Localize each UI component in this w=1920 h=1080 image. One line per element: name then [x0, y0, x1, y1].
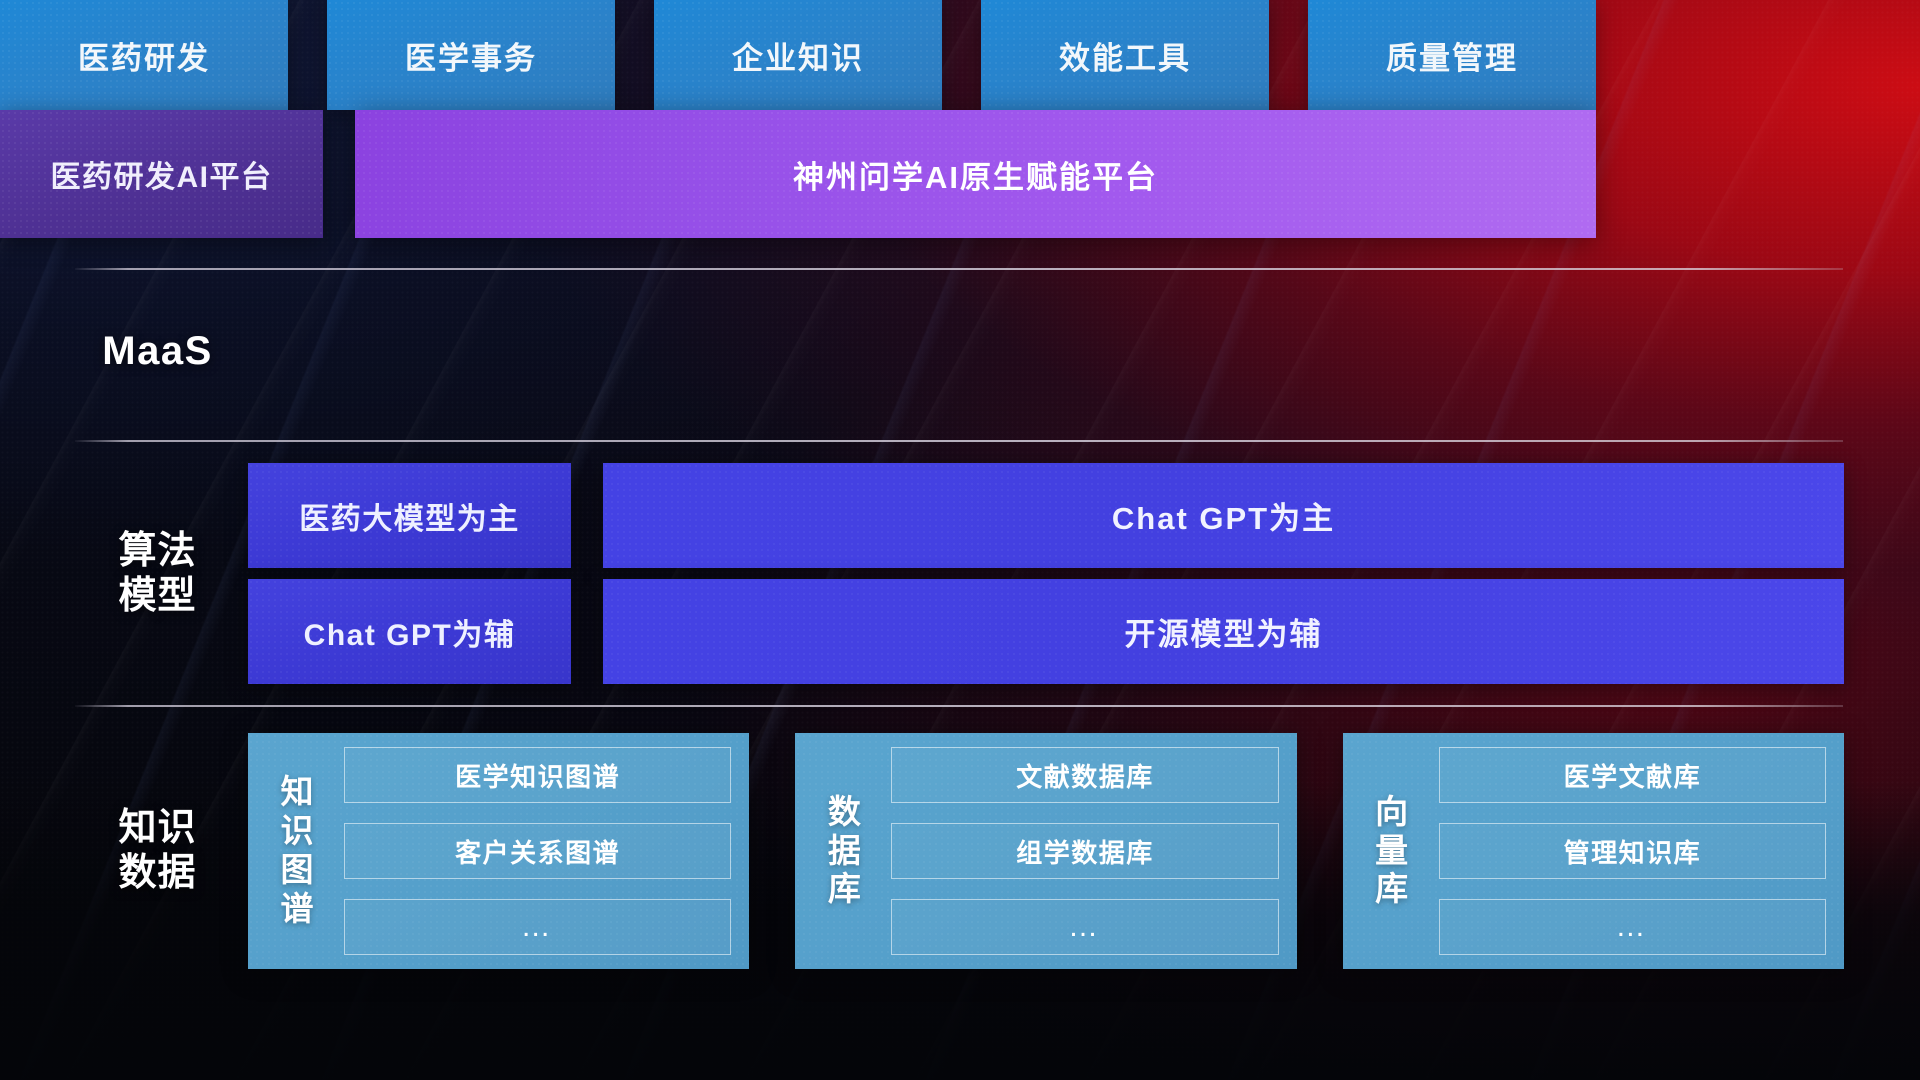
divider-scenario-maas	[75, 268, 1843, 270]
algorithm-box-medicine-llm-primary[interactable]: 医药大模型为主	[248, 463, 571, 568]
scenario-box-label: 质量管理	[1386, 33, 1518, 78]
knowledge-chip-management-knowledge[interactable]: 管理知识库	[1439, 823, 1826, 879]
maas-box-shenzhou-wenxue-platform[interactable]: 神州问学AI原生赋能平台	[355, 110, 1596, 238]
scenario-box-enterprise-knowledge[interactable]: 企业知识	[654, 0, 942, 110]
algorithm-box-label: 开源模型为辅	[1125, 609, 1323, 654]
scenario-box-row: 医药研发 医学事务 企业知识 效能工具 质量管理	[0, 0, 1596, 110]
maas-box-label: 医药研发AI平台	[51, 152, 273, 196]
diagram-content: 应用 场景 医药研发 医学事务 企业知识 效能工具 质量管理 MaaS 医药研发…	[0, 0, 1920, 1080]
knowledge-panel-knowledge-graph[interactable]: 知识图谱 医学知识图谱 客户关系图谱 …	[248, 733, 749, 969]
knowledge-panel-title: 数据库	[811, 747, 877, 955]
algorithm-row-secondary: Chat GPT为辅 开源模型为辅	[248, 579, 1844, 684]
maas-box-label: 神州问学AI原生赋能平台	[793, 152, 1158, 197]
scenario-box-label: 企业知识	[732, 33, 864, 78]
knowledge-panel-vector-store[interactable]: 向量库 医学文献库 管理知识库 …	[1343, 733, 1844, 969]
maas-box-medicine-ai-platform[interactable]: 医药研发AI平台	[0, 110, 323, 238]
algorithm-box-chatgpt-primary[interactable]: Chat GPT为主	[603, 463, 1844, 568]
divider-algorithm-knowledge	[75, 705, 1843, 707]
scenario-box-label: 效能工具	[1059, 33, 1191, 78]
knowledge-panel-database[interactable]: 数据库 文献数据库 组学数据库 …	[795, 733, 1296, 969]
knowledge-chip-more[interactable]: …	[344, 899, 731, 955]
algorithm-box-chatgpt-secondary[interactable]: Chat GPT为辅	[248, 579, 571, 684]
maas-box-row: 医药研发AI平台 神州问学AI原生赋能平台	[0, 110, 1596, 238]
knowledge-chip-list: 医学知识图谱 客户关系图谱 …	[344, 747, 731, 955]
knowledge-panel-title: 向量库	[1359, 747, 1425, 955]
divider-maas-algorithm	[75, 440, 1843, 442]
knowledge-chip-medical-graph[interactable]: 医学知识图谱	[344, 747, 731, 803]
knowledge-chip-omics-db[interactable]: 组学数据库	[891, 823, 1278, 879]
scenario-box-quality-management[interactable]: 质量管理	[1308, 0, 1596, 110]
knowledge-chip-medical-literature[interactable]: 医学文献库	[1439, 747, 1826, 803]
scenario-box-label: 医药研发	[78, 33, 210, 78]
knowledge-chip-more[interactable]: …	[891, 899, 1278, 955]
knowledge-chip-list: 文献数据库 组学数据库 …	[891, 747, 1278, 955]
scenario-box-efficiency-tools[interactable]: 效能工具	[981, 0, 1269, 110]
algorithm-row-primary: 医药大模型为主 Chat GPT为主	[248, 463, 1844, 568]
algorithm-box-label: 医药大模型为主	[299, 494, 520, 538]
algorithm-box-opensource-secondary[interactable]: 开源模型为辅	[603, 579, 1844, 684]
algorithm-box-label: Chat GPT为辅	[304, 610, 516, 654]
row-label-algorithm: 算法 模型	[75, 463, 240, 684]
algorithm-box-label: Chat GPT为主	[1112, 493, 1335, 538]
knowledge-chip-literature-db[interactable]: 文献数据库	[891, 747, 1278, 803]
knowledge-panel-title: 知识图谱	[264, 747, 330, 955]
scenario-box-medicine-rd[interactable]: 医药研发	[0, 0, 288, 110]
slide-canvas: 应用 场景 医药研发 医学事务 企业知识 效能工具 质量管理 MaaS 医药研发…	[0, 0, 1920, 1080]
knowledge-chip-more[interactable]: …	[1439, 899, 1826, 955]
row-label-maas: MaaS	[75, 288, 240, 416]
knowledge-panel-row: 知识图谱 医学知识图谱 客户关系图谱 … 数据库 文献数据库 组学数据库 … 向…	[248, 733, 1844, 969]
algorithm-box-grid: 医药大模型为主 Chat GPT为主 Chat GPT为辅 开源模型为辅	[248, 463, 1844, 684]
scenario-box-medical-affairs[interactable]: 医学事务	[327, 0, 615, 110]
row-label-knowledge: 知识 数据	[75, 733, 240, 969]
scenario-box-label: 医学事务	[405, 33, 537, 78]
knowledge-chip-customer-graph[interactable]: 客户关系图谱	[344, 823, 731, 879]
knowledge-chip-list: 医学文献库 管理知识库 …	[1439, 747, 1826, 955]
